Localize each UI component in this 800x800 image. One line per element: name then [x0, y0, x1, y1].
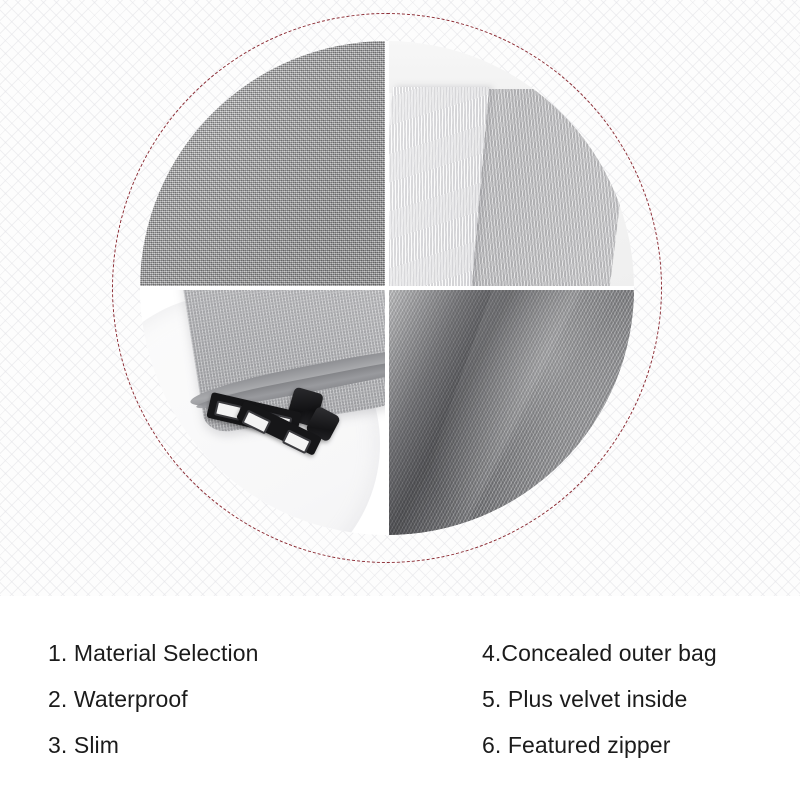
velvet-backdrop-shade — [389, 41, 634, 93]
feature-item-1: 1. Material Selection — [48, 630, 448, 676]
feature-list-right-column: 4.Concealed outer bag 5. Plus velvet ins… — [482, 630, 792, 768]
infographic-page: 1. Material Selection 2. Waterproof 3. S… — [0, 0, 800, 800]
velvet-front-flap — [389, 87, 489, 286]
feature-item-4: 4.Concealed outer bag — [482, 630, 792, 676]
quadrant-outer-bag-fold — [389, 290, 634, 535]
folded-fabric-texture — [389, 290, 634, 535]
quadrant-material-selection — [140, 41, 385, 286]
feature-item-2: 2. Waterproof — [48, 676, 448, 722]
feature-item-6: 6. Featured zipper — [482, 722, 792, 768]
quadrant-velvet-lining — [389, 41, 634, 286]
velvet-scene — [389, 41, 634, 286]
feature-item-5: 5. Plus velvet inside — [482, 676, 792, 722]
feature-item-3: 3. Slim — [48, 722, 448, 768]
feature-list: 1. Material Selection 2. Waterproof 3. S… — [0, 596, 800, 800]
woven-linen-texture — [140, 41, 385, 286]
feature-list-left-column: 1. Material Selection 2. Waterproof 3. S… — [48, 630, 448, 768]
circular-quadrant-collage — [140, 41, 634, 535]
quadrant-zipper-detail — [140, 290, 385, 535]
zipper-scene — [140, 290, 385, 535]
hero-image-panel — [0, 0, 800, 596]
quadrant-divider-horizontal — [140, 286, 634, 290]
